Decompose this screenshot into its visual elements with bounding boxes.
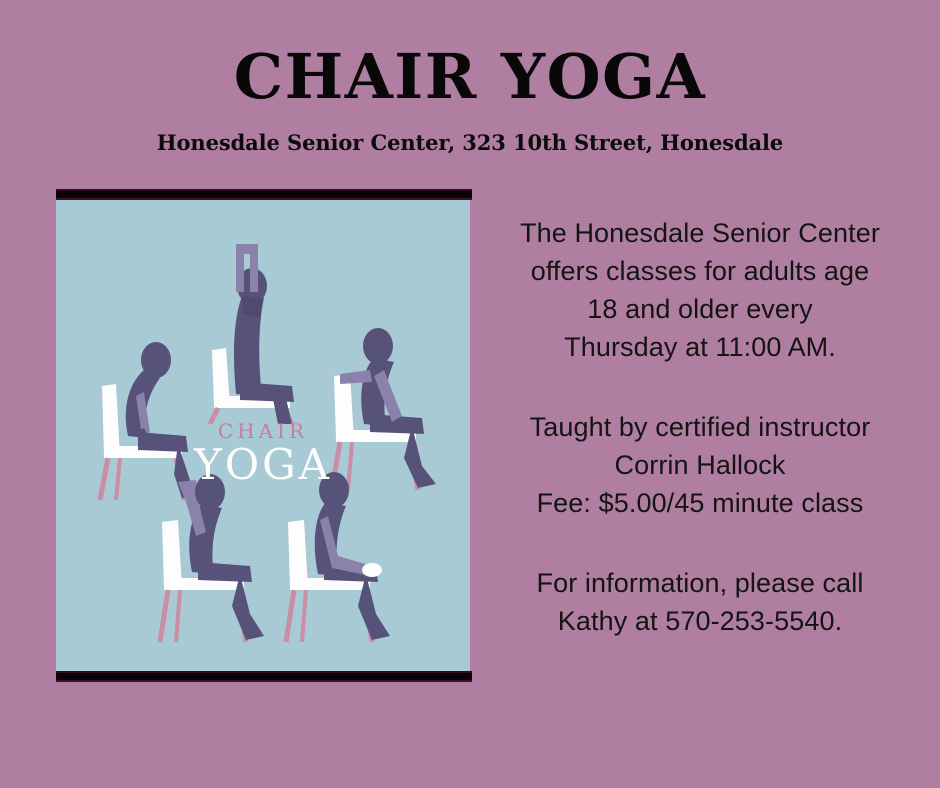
flyer-header: CHAIR YOGA Honesdale Senior Center, 323 … — [0, 0, 940, 155]
figure-hands-behind-head-pose — [152, 466, 282, 646]
schedule-paragraph: The Honesdale Senior Center offers class… — [492, 214, 908, 366]
venue-address: Honesdale Senior Center, 323 10th Street… — [0, 130, 940, 155]
schedule-line-3: 18 and older every — [492, 290, 908, 328]
contact-phone: Kathy at 570-253-5540. — [492, 602, 908, 640]
chair-yoga-flyer: CHAIR YOGA Honesdale Senior Center, 323 … — [0, 0, 940, 788]
contact-paragraph: For information, please call Kathy at 57… — [492, 564, 908, 640]
instructor-paragraph: Taught by certified instructor Corrin Ha… — [492, 408, 908, 522]
page-title: CHAIR YOGA — [0, 46, 940, 108]
frame-bar-top — [56, 189, 472, 200]
schedule-line-4: Thursday at 11:00 AM. — [492, 328, 908, 366]
fee-line: Fee: $5.00/45 minute class — [492, 484, 908, 522]
schedule-line-1: The Honesdale Senior Center — [492, 214, 908, 252]
figure-arms-overhead-pose — [206, 234, 336, 424]
illustration-panel: CHAIR YOGA — [56, 200, 470, 671]
instructor-line-1: Taught by certified instructor — [492, 408, 908, 446]
info-column: The Honesdale Senior Center offers class… — [492, 214, 908, 640]
instructor-name: Corrin Hallock — [492, 446, 908, 484]
frame-bar-bottom — [56, 671, 472, 682]
figure-seated-neutral-pose — [278, 466, 408, 646]
contact-line-1: For information, please call — [492, 564, 908, 602]
schedule-line-2: offers classes for adults age — [492, 252, 908, 290]
illustration-frame: CHAIR YOGA — [56, 189, 472, 682]
